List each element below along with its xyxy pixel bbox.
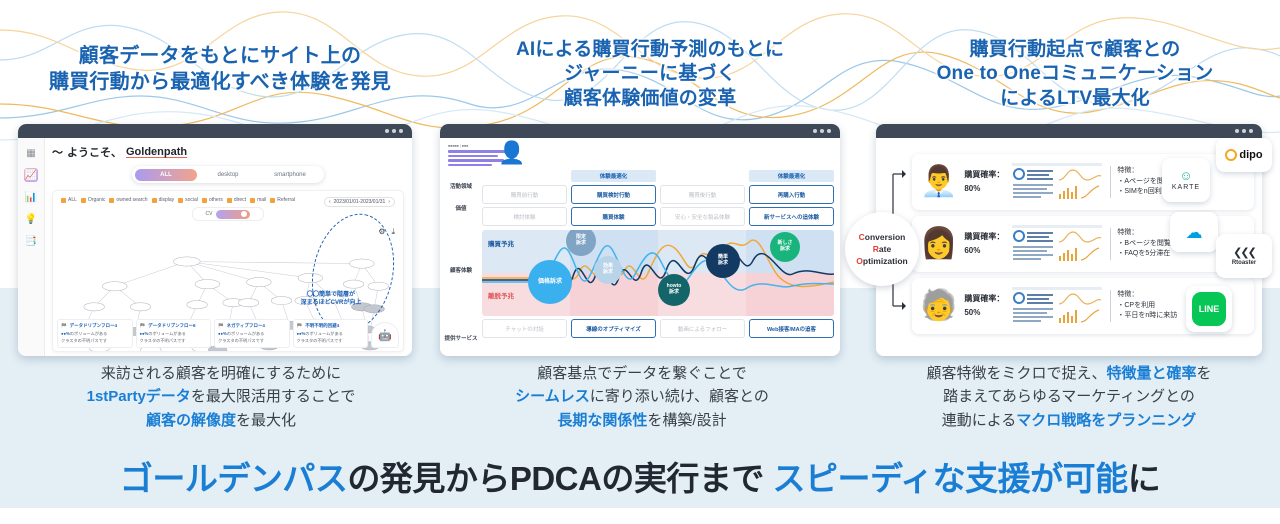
checkbox-icon[interactable] [178, 198, 183, 203]
date-range-value: 2023/01/01-2023/01/31 [334, 199, 386, 205]
cv-toggle-label: CV [206, 211, 213, 217]
line-mark-icon: LINE [1192, 292, 1226, 326]
column-header-1 [482, 170, 567, 182]
caption-line: を最大化 [236, 412, 296, 429]
column-header-2: 体験最適化 [571, 170, 656, 182]
filter-all[interactable]: ALL [61, 197, 77, 203]
window-dots [1235, 129, 1253, 133]
flow-card-body: ●●%のボリュームがあるクラスタの不明パスです [61, 331, 129, 344]
value-cell[interactable]: 購買体験 [571, 207, 656, 226]
segment-desktop[interactable]: desktop [197, 172, 259, 178]
logo-rtoaster[interactable]: ❮❮❮ Rtoaster [1216, 234, 1272, 278]
cro-line1: Conversion [859, 232, 906, 242]
feature-item: ・SIMをn回利用 [1117, 188, 1168, 195]
checkbox-icon[interactable] [61, 198, 66, 203]
window-dot[interactable] [1249, 129, 1253, 133]
feature-item: ・Bページを閲覧 [1117, 240, 1171, 247]
filter-others[interactable]: others [202, 197, 223, 203]
flow-card-body: ●●%のボリュームがあるクラスタの不明パスです [140, 331, 208, 344]
trend-chart-icon[interactable]: 📈 [24, 168, 38, 182]
checkbox-icon[interactable] [109, 198, 114, 203]
cro-badge: Conversion Rate Optimization [845, 212, 919, 286]
caption-emphasis: シームレス [515, 388, 590, 405]
document-icon[interactable]: 📑 [24, 234, 38, 248]
journey-body: ■■■■■ | ■■■ 👤 活動領域 価値 顧客体験 提供サービス 体験最適化 [440, 138, 840, 356]
chart-label-purchase-signal: 購買予兆 [488, 238, 514, 248]
row-label-experience: 顧客体験 [444, 266, 478, 274]
checkbox-icon[interactable] [81, 198, 86, 203]
window-dot[interactable] [385, 129, 389, 133]
journey-matrix-window: ■■■■■ | ■■■ 👤 活動領域 価値 顧客体験 提供サービス 体験最適化 [440, 124, 840, 356]
flow-card-body: ●●%のボリュームがあるクラスタの不明パスです [297, 331, 365, 344]
greeting-prefix: ようこそ、 [67, 144, 122, 160]
window-dot[interactable] [1242, 129, 1246, 133]
checkbox-icon[interactable] [270, 198, 275, 203]
checkbox-icon[interactable] [227, 198, 232, 203]
bubble-howto-appeal[interactable]: howto訴求 [658, 274, 690, 306]
lightbulb-icon[interactable]: 💡 [24, 212, 38, 226]
goldenpath-dashboard-window: ▦ 📈 📊 💡 📑 〜 ようこそ、Goldenpath ALL desktop … [18, 124, 412, 356]
caption-line: 顧客特徴をミクロで捉え、 [926, 365, 1106, 382]
dipo-mark-icon [1225, 149, 1237, 161]
dashboard-card: ALL Organic owned search display social … [52, 190, 404, 352]
rtoaster-mark-icon: ❮❮❮ [1233, 246, 1255, 259]
flow-icon: 🏁 [218, 323, 224, 329]
date-range-picker[interactable]: ‹ 2023/01/01-2023/01/31 › [324, 197, 395, 207]
value-cell[interactable]: 検討体験 [482, 207, 567, 226]
row-label-activity: 活動領域 [444, 182, 478, 190]
activity-row: 購買前行動 購買検討行動 購買後行動 再購入行動 [482, 185, 834, 204]
persona-features: 特徴： ・Bページを閲覧 ・FAQを5分滞在 [1110, 228, 1171, 261]
prob-value: 50% [964, 308, 980, 317]
banner-segment-1: ゴールデンパス [120, 460, 348, 497]
next-range-icon[interactable]: › [388, 199, 390, 205]
filter-referral[interactable]: Referral [270, 197, 295, 203]
feature-item: ・FAQを5分滞在 [1117, 250, 1170, 257]
feature-item: ・CPを利用 [1117, 302, 1155, 309]
banner-segment-4: に [1128, 460, 1161, 497]
greeting-name: Goldenpath [126, 146, 187, 158]
flow-card-body: ●●%のボリュームがあるクラスタの不明パスです [218, 331, 286, 344]
flow-card[interactable]: 🏁ネガティブフロー4 ●●%のボリュームがあるクラスタの不明パスです [214, 319, 290, 348]
background-footer [0, 508, 1280, 524]
service-row: チャットの対話 導線のオプティマイズ 動画によるフォロー Web接客/MAの追客 [482, 319, 834, 338]
headline-3-line2: One to Oneコミュニケーション [880, 62, 1270, 86]
filter-social[interactable]: social [178, 197, 198, 203]
headline-1-line1: 顧客データをもとにサイト上の [20, 44, 420, 70]
caption-emphasis: 顧客の解像度 [146, 412, 236, 429]
service-cell[interactable]: 導線のオプティマイズ [571, 319, 656, 338]
window-dot[interactable] [813, 129, 817, 133]
flow-card-title: データドリブンフロー4 [70, 323, 117, 329]
karte-mark-icon: ☺ [1179, 169, 1192, 182]
window-dot[interactable] [827, 129, 831, 133]
flow-card[interactable]: 🏁データドリブンフロー6 ●●%のボリュームがあるクラスタの不明パスです [136, 319, 212, 348]
flow-icon: 🏁 [297, 323, 303, 329]
headline-2-line3: 顧客体験価値の変革 [450, 87, 850, 111]
flow-card-title: ネガティブフロー4 [227, 323, 265, 329]
filter-display[interactable]: display [152, 197, 175, 203]
cv-toggle[interactable]: CV [192, 207, 264, 221]
persona-figure-icon: 👤 [498, 142, 525, 164]
window-dot[interactable] [392, 129, 396, 133]
prob-value: 60% [964, 246, 980, 255]
service-cell[interactable]: 動画によるフォロー [660, 319, 745, 338]
window-titlebar [18, 124, 412, 138]
headline-2: AIによる購買行動予測のもとに ジャーニーに基づく 顧客体験価値の変革 [450, 38, 850, 111]
value-cell[interactable]: 安心・安全な製品体験 [660, 207, 745, 226]
graph-annotation: 〇〇簡単で階層が 深まるほどCVRが向上 [285, 291, 377, 307]
bubble-price-appeal[interactable]: 価格訴求 [528, 260, 572, 304]
activity-cell[interactable]: 購買後行動 [660, 185, 745, 204]
flow-card[interactable]: 🏁データドリブンフロー4 ●●%のボリュームがあるクラスタの不明パスです [57, 319, 133, 348]
logo-karte[interactable]: ☺ KARTE [1162, 158, 1210, 202]
purchase-probability: 購買確率： 80% [964, 168, 1004, 195]
flow-card-title: 不明不明的回避4 [305, 323, 339, 329]
bubble-effect-appeal[interactable]: 効果訴求 [594, 256, 622, 284]
caption-line: を最大限活用することで [191, 388, 356, 405]
caption-line: 来訪される顧客を明確にするために [16, 362, 426, 385]
robot-assistant-icon[interactable]: 🤖 [371, 322, 399, 348]
segment-smartphone[interactable]: smartphone [259, 172, 321, 178]
headline-1-line2: 購買行動から最適化すべき体験を発見 [20, 70, 420, 96]
purchase-probability: 購買確率： 60% [964, 230, 1004, 257]
window-dots [385, 129, 403, 133]
journey-matrix: ■■■■■ | ■■■ 👤 活動領域 価値 顧客体験 提供サービス 体験最適化 [440, 138, 840, 356]
value-row: 検討体験 購買体験 安心・安全な製品体験 新サービスへの追体験 [482, 207, 834, 226]
caption-panel-2: 顧客基点でデータを繋ぐことで シームレスに寄り添い続け、顧客との 長期な関係性を… [438, 362, 846, 432]
dashboard-body: ▦ 📈 📊 💡 📑 〜 ようこそ、Goldenpath ALL desktop … [18, 138, 412, 356]
experience-signal-chart: 購買予兆 離脱予兆 限定訴求 価格訴求 効果訴求 howto訴求 簡単訴求 新し… [482, 230, 834, 316]
logo-dipo[interactable]: dipo [1216, 138, 1272, 172]
caption-emphasis: 1stPartyデータ [87, 388, 191, 405]
caption-emphasis: 特徴量と確率 [1106, 365, 1196, 382]
feature-item: ・平日をn時に来訪 [1117, 312, 1177, 319]
feature-title: 特徴： [1117, 291, 1138, 298]
flow-card[interactable]: 🏁不明不明的回避4 ●●%のボリュームがあるクラスタの不明パスです [293, 319, 369, 348]
window-dots [813, 129, 831, 133]
logo-text: dipo [1239, 149, 1262, 161]
woman-avatar: 👩 [920, 229, 957, 259]
logo-line[interactable]: LINE [1186, 286, 1232, 332]
cro-line2: Rate [873, 244, 891, 254]
mini-dashboard-thumbnail [1011, 162, 1103, 202]
chart-label-churn-signal: 離脱予兆 [488, 290, 514, 300]
service-cell[interactable]: Web接客/MAの追客 [749, 319, 834, 338]
checkbox-icon[interactable] [202, 198, 207, 203]
flow-icon: 🏁 [140, 323, 146, 329]
checkbox-icon[interactable] [152, 198, 157, 203]
toggle-switch-icon[interactable] [216, 210, 250, 219]
flow-card-title: データドリブンフロー6 [148, 323, 195, 329]
window-titlebar [440, 124, 840, 138]
filter-direct[interactable]: direct [227, 197, 246, 203]
cro-line3: Optimization [856, 256, 907, 266]
headline-2-line1: AIによる購買行動予測のもとに [450, 38, 850, 62]
filter-owned-search[interactable]: owned search [109, 197, 147, 203]
bubble-novelty-appeal[interactable]: 新しさ訴求 [770, 232, 800, 262]
salesforce-cloud-icon: ☁ [1186, 224, 1203, 241]
headline-2-line2: ジャーニーに基づく [450, 62, 850, 86]
activity-cell[interactable]: 購買前行動 [482, 185, 567, 204]
logo-text: Rtoaster [1232, 260, 1256, 266]
window-dot[interactable] [820, 129, 824, 133]
bar-chart-icon[interactable]: 📊 [24, 190, 38, 204]
mini-dashboard-thumbnail [1011, 286, 1103, 326]
grid-icon[interactable]: ▦ [24, 146, 38, 160]
caption-panel-3: 顧客特徴をミクロで捉え、特徴量と確率を 踏まえてあらゆるマーケティングとの 連動… [866, 362, 1272, 432]
senior-avatar: 🧓 [920, 291, 957, 321]
journey-column-headers: 体験最適化 体験最適化 [482, 170, 834, 182]
window-dot[interactable] [1235, 129, 1239, 133]
flow-icon: 🏁 [61, 323, 67, 329]
persona-features: 特徴： ・CPを利用 ・平日をn時に来訪 [1110, 290, 1177, 323]
checkbox-icon[interactable] [250, 198, 255, 203]
column-header-3 [660, 170, 745, 182]
caption-line: に寄り添い続け、顧客との [590, 388, 769, 405]
device-segment-control[interactable]: ALL desktop smartphone [132, 166, 324, 183]
caption-panel-1: 来訪される顧客を明確にするために 1stPartyデータを最大限活用することで … [16, 362, 426, 432]
flow-card-list: 🏁データドリブンフロー4 ●●%のボリュームがあるクラスタの不明パスです 🏁デー… [57, 319, 399, 348]
service-cell[interactable]: チャットの対話 [482, 319, 567, 338]
purchase-probability: 購買確率： 50% [964, 292, 1004, 319]
caption-emphasis: 長期な関係性 [557, 412, 647, 429]
caption-line: を構築/設計 [647, 412, 726, 429]
value-cell[interactable]: 新サービスへの追体験 [749, 207, 834, 226]
download-icon[interactable]: ⤓ [391, 227, 395, 237]
filter-organic[interactable]: Organic [81, 197, 106, 203]
prob-value: 80% [964, 184, 980, 193]
activity-cell[interactable]: 購買検討行動 [571, 185, 656, 204]
row-label-value: 価値 [444, 204, 478, 212]
headline-3-line1: 購買行動起点で顧客との [880, 38, 1270, 62]
headline-3: 購買行動起点で顧客との One to Oneコミュニケーション によるLTV最大… [880, 38, 1270, 111]
row-label-service: 提供サービス [444, 334, 478, 342]
banner-segment-2: の発見からPDCAの実行まで [347, 460, 764, 497]
prob-label: 購買確率： [964, 170, 1004, 179]
mini-dashboard-thumbnail [1011, 224, 1103, 264]
segment-all[interactable]: ALL [135, 169, 197, 181]
prob-label: 購買確率： [964, 294, 1004, 303]
dashboard-sidebar: ▦ 📈 📊 💡 📑 [18, 138, 45, 356]
logo-text: KARTE [1172, 184, 1200, 191]
caption-line: 顧客基点でデータを繋ぐことで [438, 362, 846, 385]
bottom-banner: ゴールデンパスの発見からPDCAの実行まで スピーディな支援が可能に [0, 452, 1280, 500]
window-dot[interactable] [399, 129, 403, 133]
bubble-simple-appeal[interactable]: 簡単訴求 [706, 244, 740, 278]
businessman-avatar: 👨‍💼 [920, 167, 957, 197]
page-title: 〜 ようこそ、Goldenpath [52, 144, 404, 160]
filter-mail[interactable]: mail [250, 197, 266, 203]
headline-3-line3: によるLTV最大化 [880, 87, 1270, 111]
trend-glyph-icon: 〜 [52, 144, 63, 160]
activity-cell[interactable]: 再購入行動 [749, 185, 834, 204]
feature-title: 特徴： [1117, 167, 1138, 174]
headline-1: 顧客データをもとにサイト上の 購買行動から最適化すべき体験を発見 [20, 44, 420, 95]
prob-label: 購買確率： [964, 232, 1004, 241]
caption-emphasis: マクロ戦略をプランニング [1016, 412, 1196, 429]
window-titlebar [876, 124, 1262, 138]
prev-range-icon[interactable]: ‹ [329, 199, 331, 205]
banner-segment-3: スピーディな支援が可能 [764, 460, 1128, 497]
feature-title: 特徴： [1117, 229, 1138, 236]
column-header-4: 体験最適化 [749, 170, 834, 182]
logo-salesforce[interactable]: ☁ [1170, 212, 1218, 252]
journey-grid: 体験最適化 体験最適化 購買前行動 購買検討行動 購買後行動 再購入行動 検討体… [482, 170, 834, 352]
